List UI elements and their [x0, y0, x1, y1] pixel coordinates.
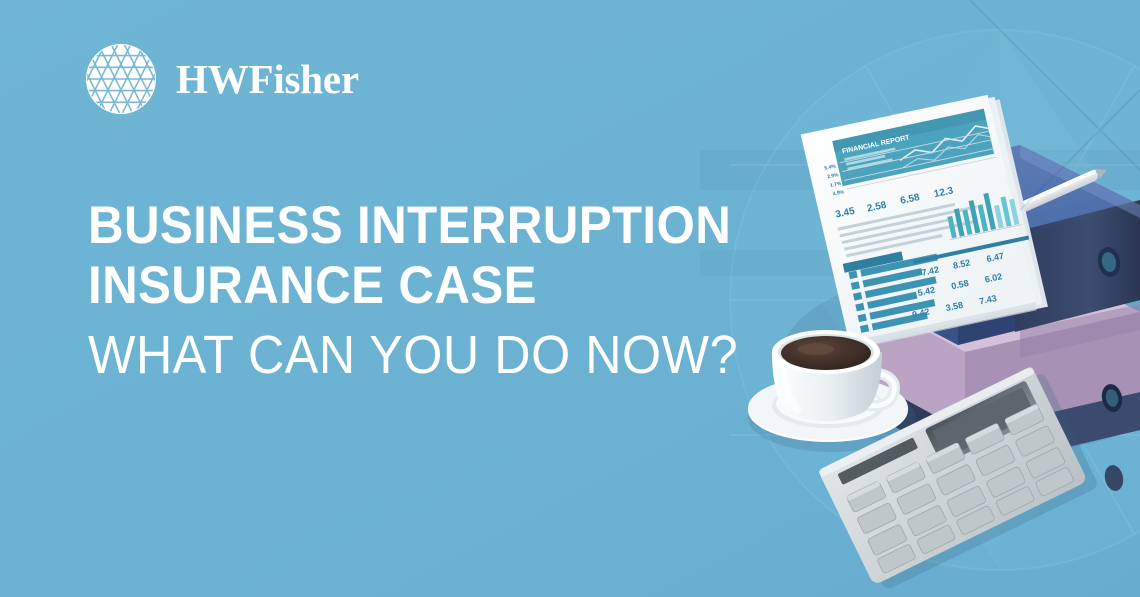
coffee-surface	[781, 336, 871, 370]
ring-binder-bottom	[880, 300, 1140, 470]
svg-text:3.45: 3.45	[834, 206, 856, 221]
svg-text:6.58: 6.58	[899, 192, 921, 207]
calculator-keypad	[846, 404, 1074, 574]
document-number-table: 7.42 8.52 6.47 5.42 0.58 6.02 9.42 3.58 …	[899, 242, 1018, 329]
headline-line-3: WHAT CAN YOU DO NOW?	[88, 324, 738, 386]
svg-text:7.43: 7.43	[978, 293, 997, 306]
svg-text:6.47: 6.47	[986, 251, 1005, 264]
svg-text:2.58: 2.58	[866, 200, 888, 215]
brand-wordmark: HWFisher	[176, 59, 359, 100]
headline-block: BUSINESS INTERRUPTION INSURANCE CASE WHA…	[88, 196, 787, 386]
calculator-display	[925, 380, 1043, 465]
stack-shadow	[780, 265, 1140, 455]
binder-ring-hole	[1095, 245, 1123, 279]
document-line-chart	[896, 123, 991, 160]
svg-text:12.3: 12.3	[933, 185, 955, 200]
svg-text:6.02: 6.02	[984, 271, 1003, 284]
svg-text:2.9%: 2.9%	[827, 172, 840, 180]
document-bar-chart	[942, 187, 1021, 239]
document-header-title: FINANCIAL REPORT	[842, 134, 911, 155]
ring-binder-top	[838, 145, 1140, 493]
pen-icon	[1008, 165, 1109, 218]
svg-text:4.9%: 4.9%	[832, 189, 845, 197]
brand-logo[interactable]: HWFisher	[86, 44, 359, 114]
svg-text:3.58: 3.58	[945, 300, 964, 313]
cup-handle	[866, 372, 894, 406]
saucer	[748, 378, 908, 442]
svg-text:7.42: 7.42	[921, 264, 940, 277]
svg-text:5.42: 5.42	[917, 285, 936, 298]
calculator	[818, 363, 1100, 595]
overlay-geometry	[970, 0, 1140, 210]
svg-text:1.7%: 1.7%	[830, 181, 843, 189]
svg-text:5.4%: 5.4%	[824, 163, 837, 171]
svg-text:9.42: 9.42	[911, 306, 930, 319]
cup-rim	[772, 330, 880, 374]
ring-binder-middle	[870, 262, 1140, 432]
calculator-body	[818, 366, 1088, 585]
headline-line-1: BUSINESS INTERRUPTION	[88, 196, 738, 256]
binder-ring-hole-lower	[1099, 382, 1124, 414]
cup-body	[772, 352, 882, 422]
financial-report-document: FINANCIAL REPORT 5.4% 2.9% 1.7% 4.9%	[782, 73, 1065, 369]
binder-ring-hole-mid	[1102, 463, 1125, 492]
headline-line-2: INSURANCE CASE	[88, 256, 738, 316]
triangular-lattice-circle-logo-icon	[86, 44, 156, 114]
svg-text:0.58: 0.58	[950, 278, 969, 291]
document-axis-ticks: 5.4% 2.9% 1.7% 4.9%	[823, 162, 845, 198]
marketing-banner: HWFisher BUSINESS INTERRUPTION INSURANCE…	[0, 0, 1140, 597]
svg-text:8.52: 8.52	[952, 257, 971, 270]
document-hbar-list	[848, 254, 949, 333]
document-summary-numbers: 3.45 2.58 6.58 12.3	[833, 173, 955, 233]
